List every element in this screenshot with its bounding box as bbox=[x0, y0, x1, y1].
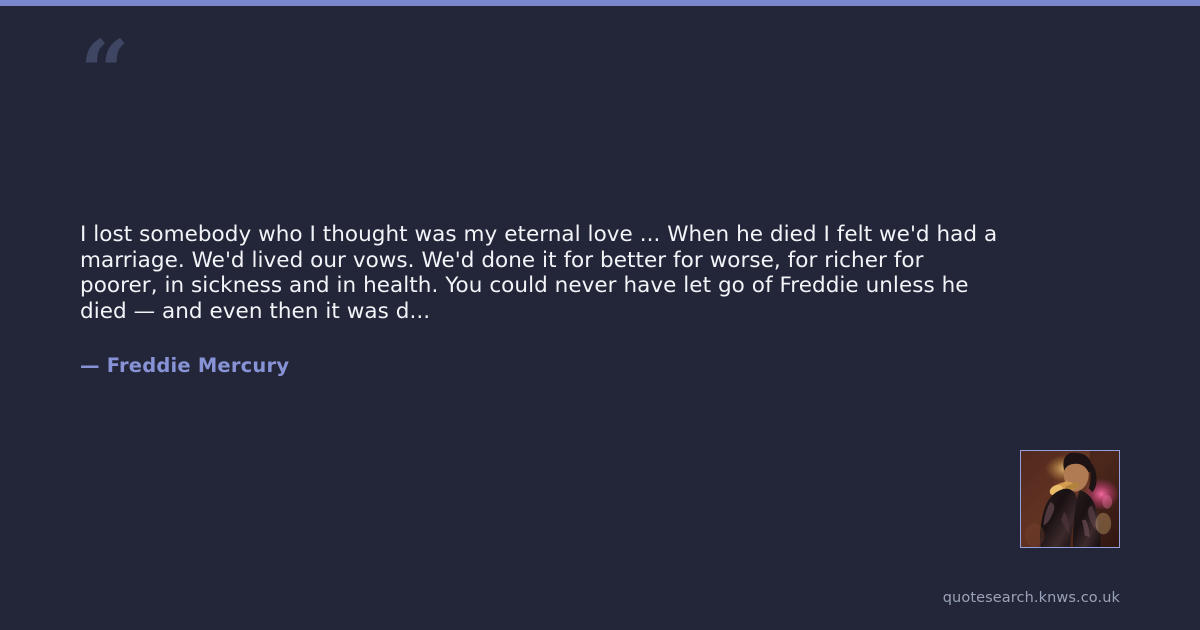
author-thumbnail bbox=[1020, 450, 1120, 548]
quote-body: I lost somebody who I thought was my ete… bbox=[80, 222, 1000, 324]
quotation-mark-icon: “ bbox=[80, 30, 127, 116]
quote-text: I lost somebody who I thought was my ete… bbox=[80, 222, 1000, 324]
quote-attribution: — Freddie Mercury bbox=[80, 354, 289, 377]
performer-photo-icon bbox=[1021, 451, 1119, 547]
top-accent-bar bbox=[0, 0, 1200, 6]
source-site-url: quotesearch.knws.co.uk bbox=[943, 590, 1120, 606]
quote-card: “ I lost somebody who I thought was my e… bbox=[0, 0, 1200, 630]
